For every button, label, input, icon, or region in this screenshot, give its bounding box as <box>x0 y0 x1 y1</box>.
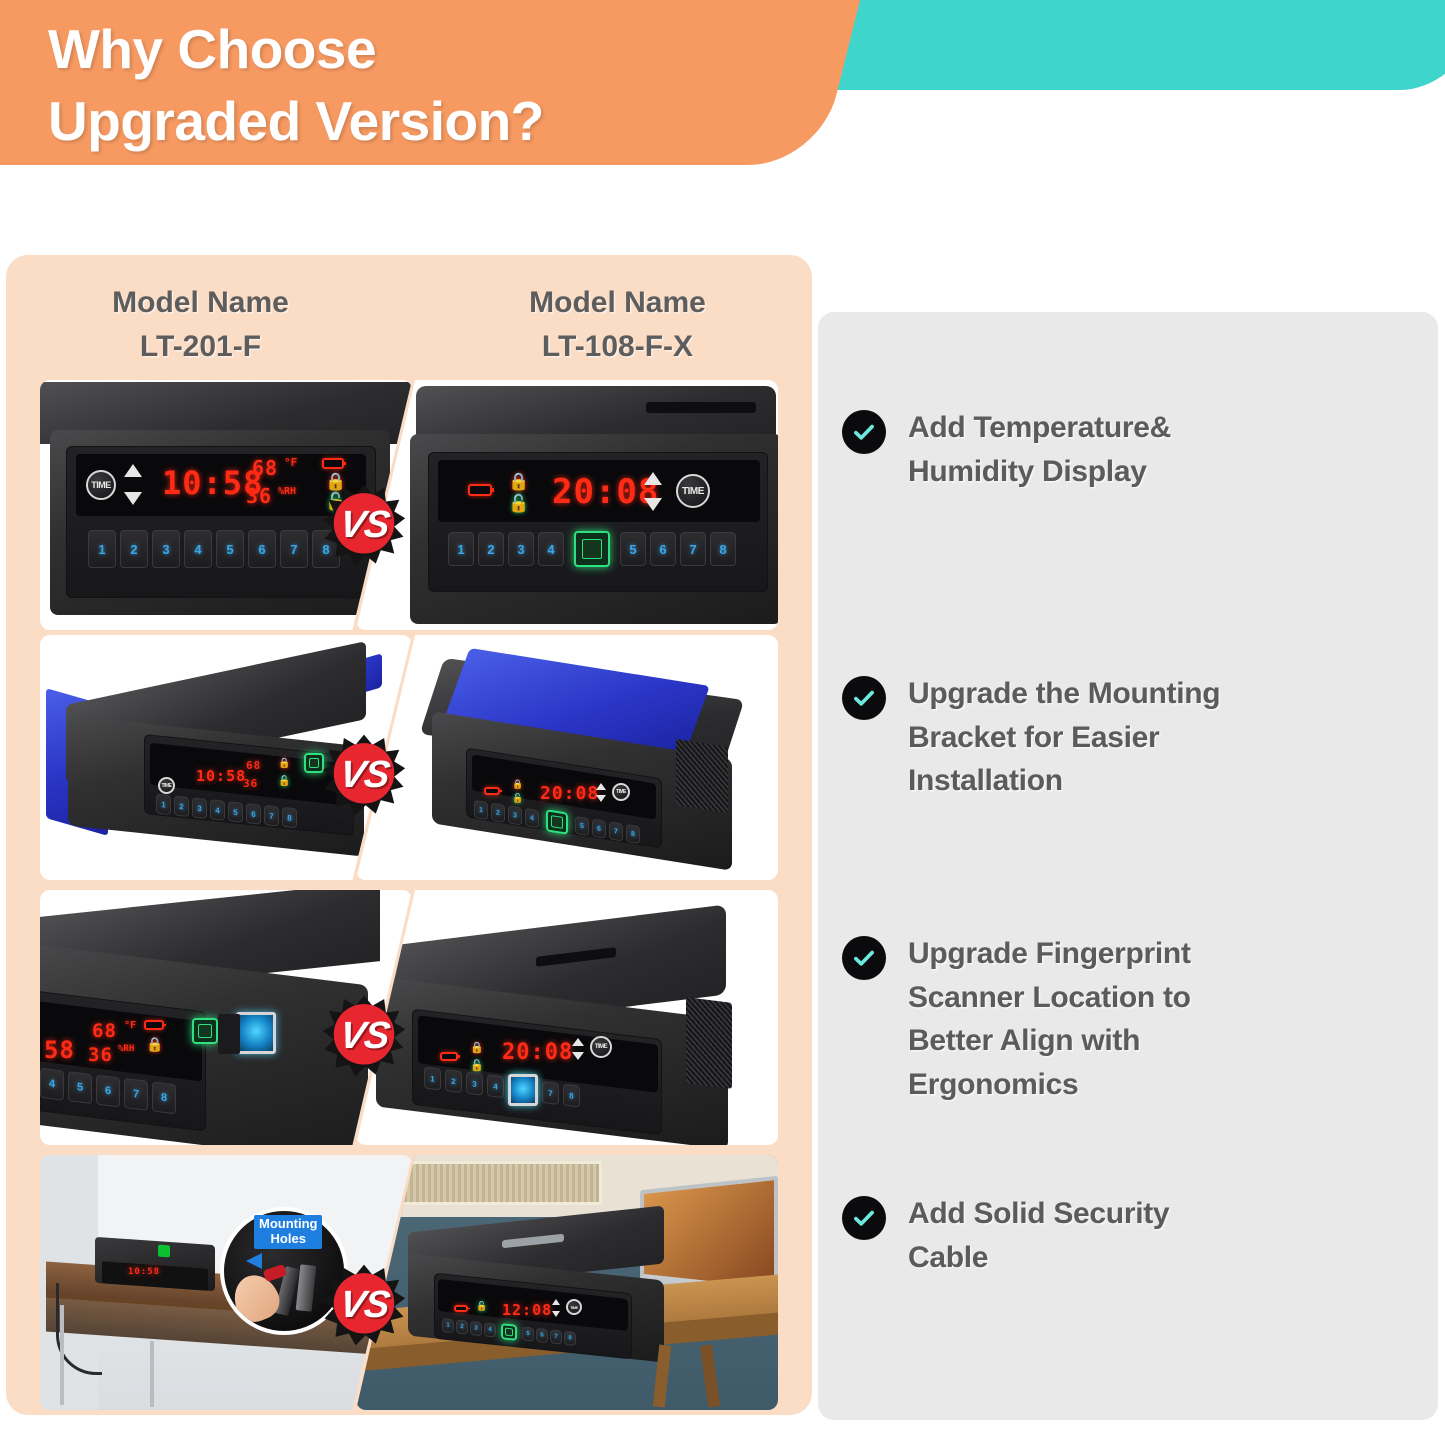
keypad-new[interactable]: 1 2 3 4 5 6 7 8 <box>448 532 736 567</box>
key-6[interactable]: 6 <box>650 532 676 566</box>
key-1[interactable]: 1 <box>448 532 474 566</box>
key-7[interactable]: 7 <box>680 532 706 566</box>
humidity-value-old-r2: 36 <box>243 777 258 790</box>
vs-label: VS <box>337 1284 392 1327</box>
key-6[interactable]: 6 <box>248 530 276 568</box>
comparison-card: Model Name LT-201-F Model Name LT-108-F-… <box>6 255 812 1415</box>
time-button-new[interactable]: TIME <box>676 474 710 508</box>
vs-badge-row2: VS <box>322 733 406 817</box>
vs-badge-row3: VS <box>322 994 406 1078</box>
check-circle-icon <box>842 1196 886 1240</box>
model-heading-old: Model Name LT-201-F <box>6 281 413 368</box>
photo-new-bracket: 🔒 🔓 20:08 TIME 1 2 3 4 5 6 7 <box>356 635 778 880</box>
feature-list-panel: Add Temperature& Humidity Display Upgrad… <box>818 312 1438 1420</box>
feature-label: Upgrade the Mounting Bracket for Easier … <box>908 672 1220 803</box>
model-heading-new: Model Name LT-108-F-X <box>413 281 812 368</box>
feature-label: Upgrade Fingerprint Scanner Location to … <box>908 932 1191 1106</box>
vs-label: VS <box>337 504 392 547</box>
humidity-unit-old-r3: %RH <box>118 1044 134 1054</box>
check-icon <box>851 419 877 445</box>
humidity-value-old: 36 <box>246 484 272 508</box>
check-icon <box>851 1205 877 1231</box>
key-1[interactable]: 1 <box>424 1066 441 1090</box>
key-8[interactable]: 8 <box>152 1081 176 1114</box>
humidity-value-old-r3: 36 <box>88 1044 113 1066</box>
photo-new-installation: 🔓 12:08 TIME 1 2 3 4 5 6 7 8 <box>356 1155 778 1410</box>
fingerprint-pad-icon[interactable] <box>574 531 610 567</box>
key-5[interactable]: 5 <box>68 1071 92 1104</box>
key-4[interactable]: 4 <box>487 1074 504 1098</box>
time-button-old[interactable]: TIME <box>86 470 116 500</box>
clock-display-new-r4: 12:08 <box>502 1301 552 1319</box>
feature-item-fingerprint-scanner: Upgrade Fingerprint Scanner Location to … <box>842 932 1422 1106</box>
humidity-unit-old: %RH <box>278 486 296 497</box>
check-circle-icon <box>842 410 886 454</box>
mounting-holes-label: Mounting Holes <box>254 1215 322 1249</box>
comparison-row-display: TIME 10:58 68 °F 36 %RH 🔒 🔓 1 2 3 <box>6 380 812 630</box>
temperature-value-old-r2: 68 <box>246 759 261 772</box>
battery-icon-old <box>322 458 344 469</box>
clock-display-new-r2: 20:08 <box>540 783 599 804</box>
temperature-unit-old: °F <box>284 456 297 469</box>
key-7[interactable]: 7 <box>124 1078 148 1111</box>
key-6[interactable]: 6 <box>96 1075 120 1108</box>
key-1[interactable]: 1 <box>88 530 116 568</box>
key-2[interactable]: 2 <box>120 530 148 568</box>
check-circle-icon <box>842 676 886 720</box>
page-title: Why Choose Upgraded Version? <box>48 14 808 157</box>
key-4[interactable]: 4 <box>184 530 212 568</box>
fingerprint-scanner-icon-old[interactable] <box>236 1012 276 1054</box>
clock-display-old-r3: 58 <box>44 1036 75 1064</box>
key-3[interactable]: 3 <box>508 532 534 566</box>
temperature-value-old-r3: 68 <box>92 1020 117 1042</box>
check-circle-icon <box>842 936 886 980</box>
key-5[interactable]: 5 <box>216 530 244 568</box>
lock-open-icon-new: 🔓 <box>508 496 529 513</box>
lock-closed-icon-new: 🔒 <box>508 474 529 491</box>
time-button-new-r2[interactable]: TIME <box>612 783 630 801</box>
time-button-old-r2[interactable]: TIME <box>158 777 175 794</box>
comparison-row-fingerprint: 58 68 °F 36 %RH 🔒 4 5 6 7 8 <box>6 890 812 1145</box>
feature-item-security-cable: Add Solid Security Cable <box>842 1192 1422 1279</box>
clock-display-new-r3: 20:08 <box>502 1040 573 1065</box>
comparison-row-bracket: TIME 10:58 68 36 🔒 🔓 1 2 3 4 5 6 7 <box>6 635 812 880</box>
check-icon <box>851 685 877 711</box>
feature-item-temperature-humidity: Add Temperature& Humidity Display <box>842 406 1422 493</box>
fingerprint-pad-icon-old-r2[interactable] <box>304 753 324 773</box>
key-2[interactable]: 2 <box>478 532 504 566</box>
fingerprint-pad-icon-new-r2[interactable] <box>546 809 568 834</box>
fingerprint-pad-icon-old-r3[interactable] <box>192 1018 218 1044</box>
callout-arrow-icon <box>246 1253 262 1269</box>
vs-badge-row4: VS <box>322 1263 406 1347</box>
key-7[interactable]: 7 <box>542 1081 559 1105</box>
model-name-headings: Model Name LT-201-F Model Name LT-108-F-… <box>6 281 812 368</box>
photo-new-display-panel: 🔒 🔓 20:08 TIME 1 2 3 4 5 6 7 <box>356 380 778 630</box>
fingerprint-pad-icon-new-r4[interactable] <box>501 1323 517 1341</box>
feature-label: Add Solid Security Cable <box>908 1192 1169 1279</box>
keypad-old[interactable]: 1 2 3 4 5 6 7 8 <box>88 530 340 568</box>
key-4[interactable]: 4 <box>40 1068 64 1101</box>
key-3[interactable]: 3 <box>152 530 180 568</box>
key-8[interactable]: 8 <box>563 1083 580 1107</box>
key-5[interactable]: 5 <box>620 532 646 566</box>
key-4[interactable]: 4 <box>538 532 564 566</box>
header-teal-accent <box>760 0 1445 90</box>
vs-label: VS <box>337 1015 392 1058</box>
key-3[interactable]: 3 <box>466 1072 483 1096</box>
temperature-value-old: 68 <box>252 456 278 480</box>
comparison-row-installation: 10:58 Mounting Holes <box>6 1155 812 1410</box>
temperature-unit-old-r3: °F <box>124 1020 136 1031</box>
feature-item-mounting-bracket: Upgrade the Mounting Bracket for Easier … <box>842 672 1422 803</box>
battery-icon-new <box>468 484 492 496</box>
photo-new-fingerprint: 🔒 🔓 20:08 TIME 1 2 3 4 7 8 <box>356 890 778 1145</box>
key-7[interactable]: 7 <box>280 530 308 568</box>
check-icon <box>851 945 877 971</box>
vs-badge-row1: VS <box>322 483 406 567</box>
fingerprint-scanner-icon-new[interactable] <box>508 1074 538 1106</box>
infographic-page: Why Choose Upgraded Version? Model Name … <box>0 0 1445 1445</box>
time-button-new-r3[interactable]: TIME <box>590 1036 612 1058</box>
feature-label: Add Temperature& Humidity Display <box>908 406 1171 493</box>
key-2[interactable]: 2 <box>445 1069 462 1093</box>
key-8[interactable]: 8 <box>710 532 736 566</box>
clock-display-old-r2: 10:58 <box>196 767 246 785</box>
vs-label: VS <box>337 754 392 797</box>
